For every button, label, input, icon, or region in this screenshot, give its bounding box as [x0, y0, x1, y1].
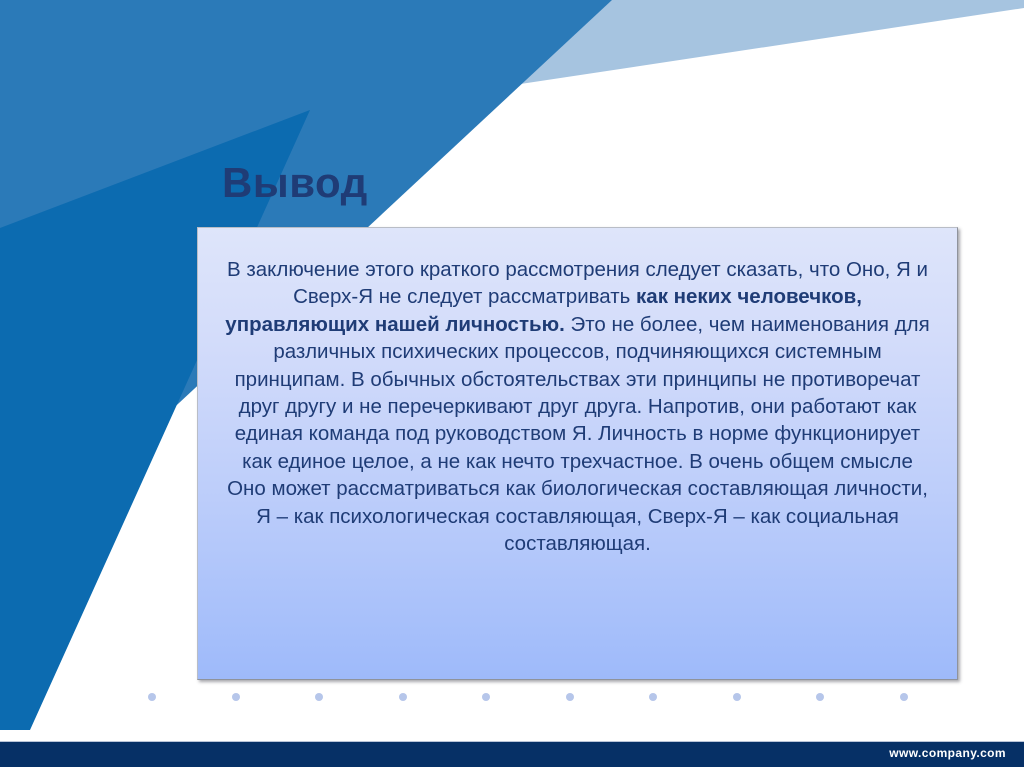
decorative-dot	[232, 693, 240, 701]
decorative-dot	[399, 693, 407, 701]
slide-title: Вывод	[222, 160, 368, 206]
decorative-dot-row	[148, 691, 908, 703]
decorative-dot	[566, 693, 574, 701]
decorative-dot	[816, 693, 824, 701]
decorative-dot	[148, 693, 156, 701]
slide-body-text: В заключение этого краткого рассмотрения…	[222, 256, 933, 557]
footer-url-label: www.company.com	[889, 746, 1006, 760]
footer-bar: www.company.com	[0, 741, 1024, 767]
body-text-run: Это не более, чем наименования для разли…	[227, 313, 935, 555]
decorative-dot	[649, 693, 657, 701]
presentation-slide: Вывод В заключение этого краткого рассмо…	[0, 0, 1024, 767]
decorative-dot	[733, 693, 741, 701]
decorative-dot	[315, 693, 323, 701]
content-text-box: В заключение этого краткого рассмотрения…	[197, 227, 958, 680]
decorative-dot	[482, 693, 490, 701]
decorative-dot	[900, 693, 908, 701]
